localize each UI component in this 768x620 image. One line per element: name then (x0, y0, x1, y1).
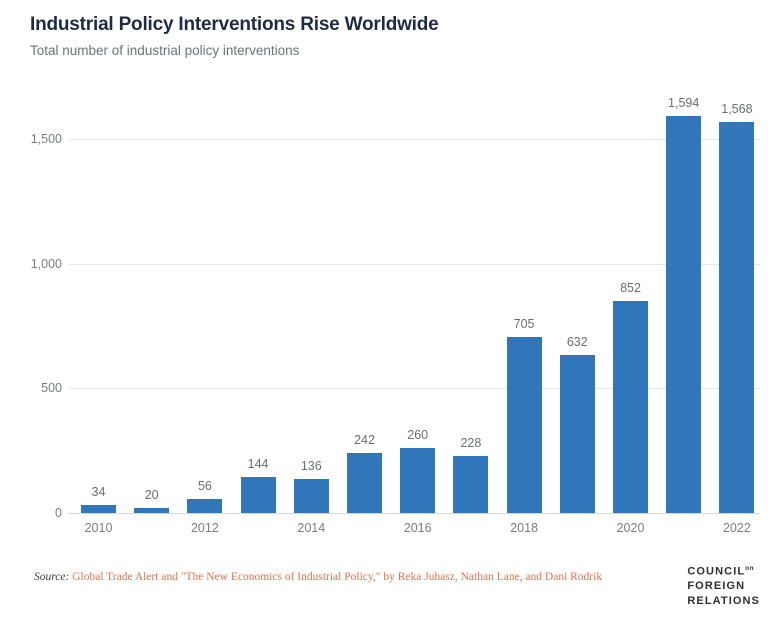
x-axis-tick-label: 2010 (67, 521, 130, 535)
bar[interactable] (347, 453, 382, 513)
source-note: Source: Global Trade Alert and "The New … (34, 570, 602, 584)
bar-value-label: 20 (122, 489, 181, 502)
x-axis-tick-label: 2016 (386, 521, 449, 535)
x-axis-tick-label: 2014 (280, 521, 343, 535)
bar[interactable] (507, 337, 542, 513)
bar[interactable] (294, 479, 329, 513)
cfr-logo-on: on (745, 565, 754, 572)
bar-value-label: 136 (282, 460, 341, 473)
cfr-logo-line-1: COUNCILon (687, 562, 760, 579)
bar-value-label: 1,594 (654, 97, 713, 110)
bar-value-label: 242 (335, 434, 394, 447)
bar-value-label: 632 (548, 336, 607, 349)
bar[interactable] (134, 508, 169, 513)
bar-series: 3420561441362422602287056328521,5941,568 (0, 0, 768, 545)
bar-value-label: 852 (601, 282, 660, 295)
bar[interactable] (400, 448, 435, 513)
x-axis-tick-label: 2018 (493, 521, 556, 535)
bar-value-label: 260 (388, 429, 447, 442)
bar[interactable] (560, 355, 595, 513)
chart-page: Industrial Policy Interventions Rise Wor… (0, 0, 768, 620)
bar-value-label: 56 (175, 480, 234, 493)
chart-footer: Source: Global Trade Alert and "The New … (0, 560, 768, 620)
cfr-logo: COUNCILon FOREIGN RELATIONS (687, 562, 760, 608)
bar[interactable] (719, 122, 754, 513)
bar[interactable] (241, 477, 276, 513)
bar[interactable] (613, 301, 648, 513)
bar[interactable] (81, 505, 116, 513)
bar-value-label: 34 (69, 486, 128, 499)
x-axis-tick-label: 2022 (705, 521, 768, 535)
cfr-logo-line-3: RELATIONS (687, 594, 760, 609)
cfr-logo-line-2: FOREIGN (687, 579, 760, 594)
cfr-logo-council: COUNCIL (687, 566, 745, 578)
x-axis-tick-label: 2012 (173, 521, 236, 535)
bar-value-label: 228 (441, 437, 500, 450)
source-label: Source: (34, 571, 69, 583)
source-text: Global Trade Alert and "The New Economic… (72, 571, 602, 583)
x-axis-tick-label: 2020 (599, 521, 662, 535)
bar-value-label: 144 (229, 458, 288, 471)
bar[interactable] (187, 499, 222, 513)
bar[interactable] (453, 456, 488, 513)
bar[interactable] (666, 116, 701, 513)
bar-value-label: 705 (495, 318, 554, 331)
plot-area: 05001,0001,500 3420561441362422602287056… (0, 0, 768, 545)
bar-value-label: 1,568 (707, 103, 766, 116)
